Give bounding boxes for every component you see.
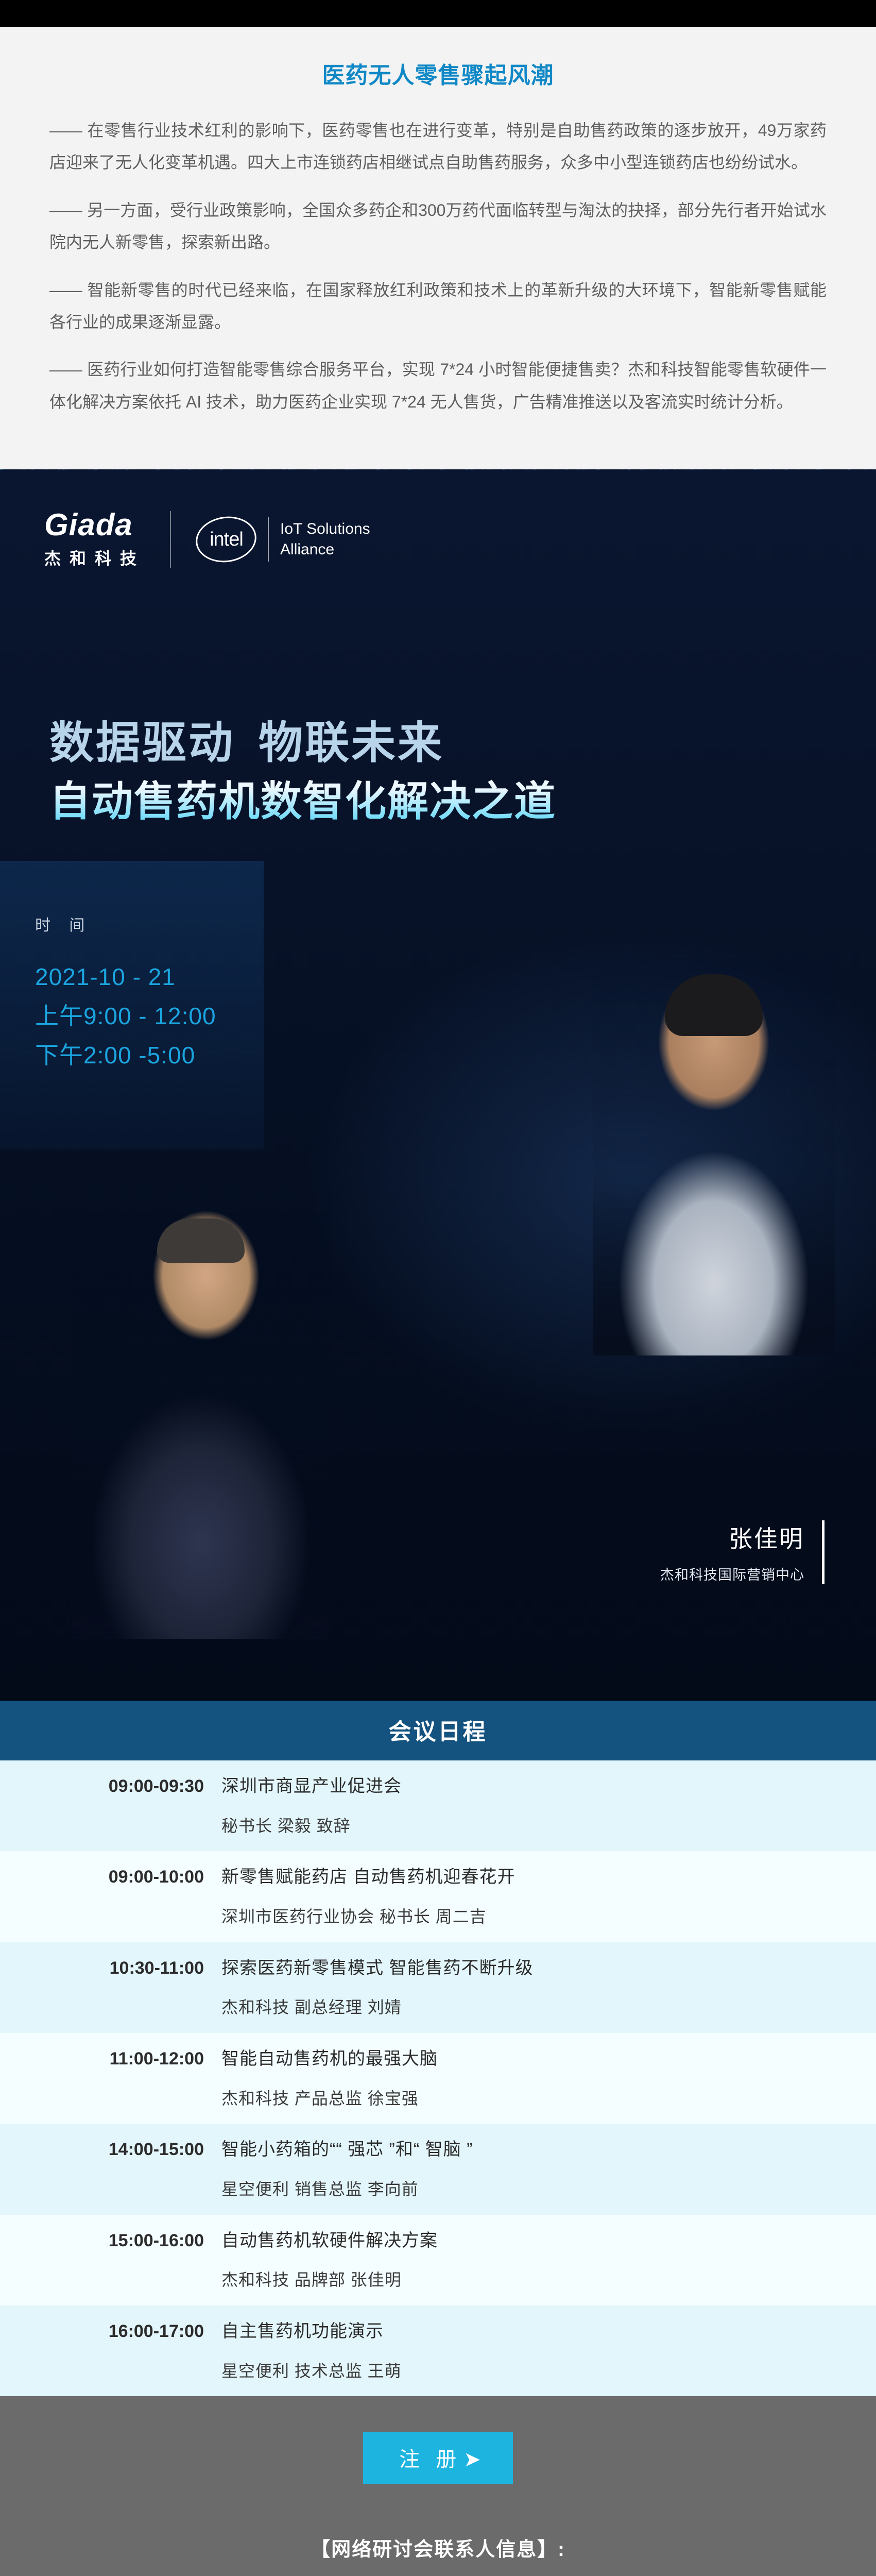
event-afternoon-time: 下午2:00 -5:00 <box>35 1036 264 1075</box>
agenda-topic: 智能小药箱的““ 强芯 ”和“ 智脑 ” <box>221 2136 830 2163</box>
speaker-photo-liangyi <box>72 1206 330 1639</box>
event-date: 2021-10 - 21 <box>35 958 264 997</box>
giada-logo-wordmark: Giada <box>44 510 145 540</box>
footer-section: 注 册➤ 【网络研讨会联系人信息】: 联系人：Jam Zhang 电话：+86-… <box>0 2396 876 2576</box>
table-row: 10:30-11:00探索医药新零售模式 智能售药不断升级杰和科技 副总经理 刘… <box>0 1942 876 2033</box>
article-paragraph: —— 另一方面，受行业政策影响，全国众多药企和300万药代面临转型与淘汰的抉择，… <box>49 194 827 259</box>
giada-logo-chinese: 杰和科技 <box>44 546 145 569</box>
agenda-time: 09:00-09:30 <box>0 1773 221 1800</box>
agenda-time: 14:00-15:00 <box>0 2136 221 2163</box>
speaker-photo-zhangjiaming <box>593 954 835 1355</box>
agenda-time: 11:00-12:00 <box>0 2045 221 2073</box>
hero-headline: 数据驱动物联未来 <box>49 706 444 771</box>
speaker-role: 杰和科技国际营销中心 <box>660 1564 804 1584</box>
giada-logo: Giada 杰和科技 <box>44 510 145 569</box>
logo-divider <box>170 511 171 568</box>
webinar-poster: 医药无人零售骤起风潮 —— 在零售行业技术红利的影响下，医药零售也在进行变革，特… <box>0 0 876 2576</box>
table-row: 15:00-16:00自动售药机软硬件解决方案杰和科技 品牌部 张佳明 <box>0 2215 876 2306</box>
intel-logo-text: intel <box>210 529 243 551</box>
agenda-detail: 智能小药箱的““ 强芯 ”和“ 智脑 ”星空便利 销售总监 李向前 <box>221 2136 876 2202</box>
agenda-topic: 智能自动售药机的最强大脑 <box>221 2045 830 2073</box>
agenda-section: 会议日程 09:00-09:30深圳市商显产业促进会秘书长 梁毅 致辞09:00… <box>0 1701 876 2396</box>
hero-headline-part2: 物联未来 <box>259 718 444 768</box>
agenda-topic: 自动售药机软硬件解决方案 <box>221 2227 830 2255</box>
agenda-detail: 新零售赋能药店 自动售药机迎春花开深圳市医药行业协会 秘书长 周二吉 <box>221 1863 876 1929</box>
intel-iot-alliance-logo: intel IoT Solutions Alliance <box>196 517 370 562</box>
article-paragraph: —— 医药行业如何打造智能零售综合服务平台，实现 7*24 小时智能便捷售卖？杰… <box>49 353 827 418</box>
agenda-topic: 深圳市商显产业促进会 <box>221 1773 830 1800</box>
article-paragraph: —— 智能新零售的时代已经来临，在国家释放红利政策和技术上的革新升级的大环境下，… <box>49 274 827 338</box>
agenda-detail: 自主售药机功能演示星空便利 技术总监 王萌 <box>221 2318 876 2384</box>
intel-logo-divider <box>268 517 269 562</box>
article-section: 医药无人零售骤起风潮 —— 在零售行业技术红利的影响下，医药零售也在进行变革，特… <box>0 27 876 469</box>
intel-alliance-line2: Alliance <box>280 539 370 561</box>
agenda-speaker: 星空便利 销售总监 李向前 <box>221 2177 830 2202</box>
agenda-time: 10:30-11:00 <box>0 1955 221 1982</box>
hero-subheadline: 自动售药机数智化解决之道 <box>49 768 556 828</box>
agenda-speaker: 杰和科技 产品总监 徐宝强 <box>221 2086 830 2112</box>
agenda-time: 15:00-16:00 <box>0 2227 221 2255</box>
agenda-detail: 自动售药机软硬件解决方案杰和科技 品牌部 张佳明 <box>221 2227 876 2293</box>
time-label: 时 间 <box>35 912 264 935</box>
agenda-detail: 智能自动售药机的最强大脑杰和科技 产品总监 徐宝强 <box>221 2045 876 2111</box>
table-row: 09:00-10:00新零售赋能药店 自动售药机迎春花开深圳市医药行业协会 秘书… <box>0 1851 876 1942</box>
agenda-speaker: 杰和科技 副总经理 刘婧 <box>221 1995 830 2021</box>
intel-alliance-line1: IoT Solutions <box>280 519 370 540</box>
hero-headline-part1: 数据驱动 <box>49 718 235 768</box>
play-arrow-icon: ➤ <box>463 2448 481 2471</box>
agenda-time: 09:00-10:00 <box>0 1863 221 1891</box>
register-button-label: 注 册 <box>399 2448 461 2471</box>
table-row: 11:00-12:00智能自动售药机的最强大脑杰和科技 产品总监 徐宝强 <box>0 2033 876 2124</box>
hero-banner: Giada 杰和科技 intel IoT Solutions Alliance … <box>0 469 876 1701</box>
speaker-name: 张佳明 <box>660 1520 804 1554</box>
top-black-bar <box>0 0 876 27</box>
intel-swirl-icon: intel <box>193 513 259 566</box>
register-button[interactable]: 注 册➤ <box>363 2432 513 2484</box>
logo-row: Giada 杰和科技 intel IoT Solutions Alliance <box>44 510 370 569</box>
agenda-topic: 自主售药机功能演示 <box>221 2318 830 2345</box>
contact-info-title: 【网络研讨会联系人信息】: <box>0 2533 876 2562</box>
event-time-panel: 时 间 2021-10 - 21 上午9:00 - 12:00 下午2:00 -… <box>0 861 264 1149</box>
agenda-speaker: 秘书长 梁毅 致辞 <box>221 1814 830 1839</box>
table-row: 09:00-09:30深圳市商显产业促进会秘书长 梁毅 致辞 <box>0 1760 876 1851</box>
speaker-caption-right: 张佳明 杰和科技国际营销中心 <box>660 1520 825 1584</box>
agenda-heading: 会议日程 <box>0 1701 876 1760</box>
agenda-topic: 探索医药新零售模式 智能售药不断升级 <box>221 1955 830 1982</box>
agenda-table: 09:00-09:30深圳市商显产业促进会秘书长 梁毅 致辞09:00-10:0… <box>0 1760 876 2396</box>
table-row: 16:00-17:00自主售药机功能演示星空便利 技术总监 王萌 <box>0 2306 876 2396</box>
agenda-detail: 探索医药新零售模式 智能售药不断升级杰和科技 副总经理 刘婧 <box>221 1955 876 2021</box>
agenda-speaker: 深圳市医药行业协会 秘书长 周二吉 <box>221 1904 830 1930</box>
table-row: 14:00-15:00智能小药箱的““ 强芯 ”和“ 智脑 ”星空便利 销售总监… <box>0 2124 876 2214</box>
article-paragraph: —— 在零售行业技术红利的影响下，医药零售也在进行变革，特别是自助售药政策的逐步… <box>49 114 827 179</box>
page-title: 医药无人零售骤起风潮 <box>49 57 827 90</box>
event-morning-time: 上午9:00 - 12:00 <box>35 997 264 1036</box>
agenda-time: 16:00-17:00 <box>0 2318 221 2345</box>
intel-alliance-text: IoT Solutions Alliance <box>280 519 370 561</box>
agenda-topic: 新零售赋能药店 自动售药机迎春花开 <box>221 1863 830 1891</box>
agenda-speaker: 星空便利 技术总监 王萌 <box>221 2359 830 2384</box>
agenda-detail: 深圳市商显产业促进会秘书长 梁毅 致辞 <box>221 1773 876 1839</box>
agenda-speaker: 杰和科技 品牌部 张佳明 <box>221 2267 830 2293</box>
